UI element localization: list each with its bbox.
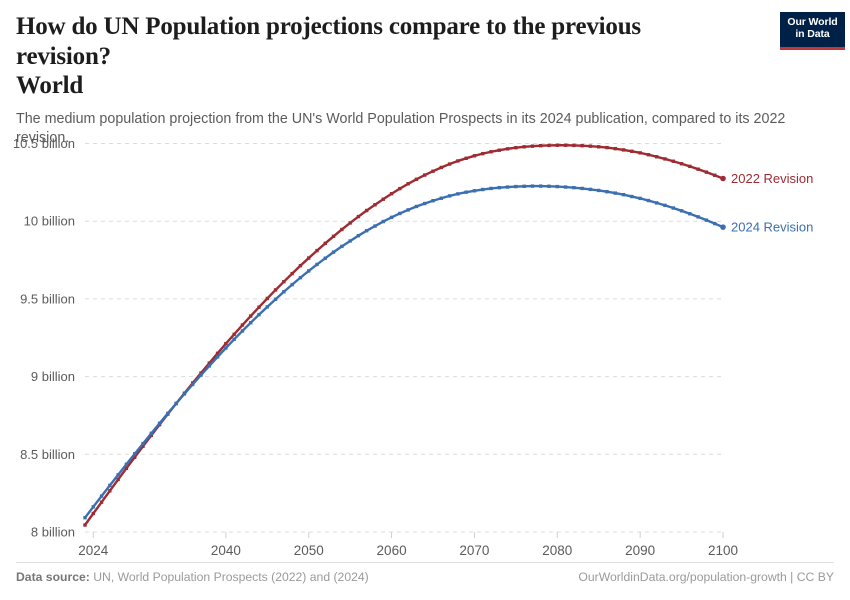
series-point <box>116 478 119 481</box>
series-point <box>83 523 86 526</box>
series-point <box>199 373 202 376</box>
series-end-marker <box>720 224 726 230</box>
series-point <box>514 146 517 149</box>
series-point <box>622 193 625 196</box>
series-end-marker <box>720 176 726 182</box>
series-point <box>522 185 525 188</box>
page-title-text: How do UN Population projections compare… <box>16 13 641 70</box>
series-point <box>266 297 269 300</box>
series-point <box>406 182 409 185</box>
series-point <box>580 187 583 190</box>
series-point <box>564 185 567 188</box>
series-point <box>125 463 128 466</box>
series-point <box>257 305 260 308</box>
series-point <box>431 199 434 202</box>
series-point <box>274 288 277 291</box>
series-point <box>431 170 434 173</box>
series-point <box>489 150 492 153</box>
series-point <box>481 188 484 191</box>
series-point <box>473 189 476 192</box>
series-point <box>630 150 633 153</box>
y-tick-label: 8 billion <box>31 525 75 540</box>
series-point <box>663 157 666 160</box>
y-tick-label: 8.5 billion <box>20 447 75 462</box>
series-point <box>423 202 426 205</box>
series-point <box>647 153 650 156</box>
series-point <box>597 145 600 148</box>
series-point <box>340 245 343 248</box>
owid-logo-line1: Our World <box>780 17 845 29</box>
series-point <box>332 235 335 238</box>
series-point <box>672 206 675 209</box>
series-point <box>357 234 360 237</box>
series-point <box>605 146 608 149</box>
series-point <box>398 187 401 190</box>
series-point <box>605 190 608 193</box>
series-point <box>696 215 699 218</box>
series-point <box>672 160 675 163</box>
data-source: Data source: UN, World Population Prospe… <box>16 570 369 584</box>
series-point <box>249 314 252 317</box>
series-point <box>373 224 376 227</box>
x-tick-label: 2060 <box>377 543 407 557</box>
data-source-value: UN, World Population Prospects (2022) an… <box>90 570 369 584</box>
page-title: How do UN Population projections compare… <box>16 12 716 101</box>
series-point <box>647 199 650 202</box>
series-point <box>133 452 136 455</box>
x-tick-label: 2040 <box>211 543 241 557</box>
series-point <box>663 204 666 207</box>
y-tick-label: 9 billion <box>31 369 75 384</box>
series-point <box>299 276 302 279</box>
series-point <box>282 290 285 293</box>
series-point <box>614 147 617 150</box>
series-point <box>440 166 443 169</box>
series-point <box>423 173 426 176</box>
series-point <box>506 185 509 188</box>
series-point <box>83 516 86 519</box>
series-point <box>315 249 318 252</box>
series-point <box>390 216 393 219</box>
series-point <box>365 209 368 212</box>
series-point <box>415 205 418 208</box>
series-point <box>464 157 467 160</box>
series-point <box>348 239 351 242</box>
series-point <box>539 184 542 187</box>
series-point <box>547 144 550 147</box>
series-point <box>348 221 351 224</box>
data-source-label: Data source: <box>16 570 90 584</box>
series-point <box>232 333 235 336</box>
y-tick-label: 10 billion <box>24 214 75 229</box>
series-point <box>415 178 418 181</box>
series-point <box>290 283 293 286</box>
owid-logo-line2: in Data <box>780 29 845 41</box>
series-point <box>448 194 451 197</box>
series-point <box>547 185 550 188</box>
series-point <box>572 144 575 147</box>
series-point <box>622 148 625 151</box>
series-point <box>506 147 509 150</box>
series-point <box>183 392 186 395</box>
series-point <box>158 422 161 425</box>
y-tick-label: 9.5 billion <box>20 291 75 306</box>
x-tick-label: 2070 <box>459 543 489 557</box>
series-point <box>696 167 699 170</box>
series-point <box>456 159 459 162</box>
series-point <box>556 144 559 147</box>
line-chart-svg: 8 billion8.5 billion9 billion9.5 billion… <box>0 112 850 557</box>
series-point <box>357 215 360 218</box>
series-point <box>216 355 219 358</box>
series-point <box>531 184 534 187</box>
series-point <box>382 220 385 223</box>
y-tick-label: 10.5 billion <box>13 136 75 151</box>
series-point <box>597 189 600 192</box>
chart-credit[interactable]: OurWorldinData.org/population-growth | C… <box>578 570 834 584</box>
series-point <box>373 203 376 206</box>
series-point <box>688 165 691 168</box>
series-point <box>531 144 534 147</box>
series-point <box>589 144 592 147</box>
series-point <box>299 264 302 267</box>
series-point <box>655 155 658 158</box>
series-line <box>85 145 723 525</box>
series-point <box>282 280 285 283</box>
series-label-2[interactable]: 2024 Revision <box>731 220 813 235</box>
series-point <box>191 383 194 386</box>
series-point <box>150 432 153 435</box>
series-point <box>390 192 393 195</box>
series-point <box>564 144 567 147</box>
series-point <box>464 190 467 193</box>
x-tick-label: 2050 <box>294 543 324 557</box>
x-tick-label: 2090 <box>625 543 655 557</box>
series-point <box>498 186 501 189</box>
series-point <box>241 329 244 332</box>
chart-plot-area: 8 billion8.5 billion9 billion9.5 billion… <box>0 112 850 557</box>
series-point <box>398 212 401 215</box>
series-point <box>580 144 583 147</box>
series-point <box>630 195 633 198</box>
series-point <box>290 272 293 275</box>
series-point <box>365 229 368 232</box>
series-point <box>100 494 103 497</box>
series-point <box>340 228 343 231</box>
chart-page: How do UN Population projections compare… <box>0 0 850 600</box>
series-point <box>688 212 691 215</box>
series-point <box>556 185 559 188</box>
x-tick-label: 2080 <box>542 543 572 557</box>
series-point <box>324 242 327 245</box>
series-point <box>108 489 111 492</box>
series-point <box>108 484 111 487</box>
series-point <box>92 505 95 508</box>
x-tick-label: 2100 <box>708 543 738 557</box>
series-point <box>440 197 443 200</box>
series-point <box>572 186 575 189</box>
series-point <box>638 151 641 154</box>
series-point <box>92 512 95 515</box>
series-point <box>498 149 501 152</box>
series-point <box>655 201 658 204</box>
owid-logo[interactable]: Our World in Data <box>780 12 845 50</box>
series-point <box>307 269 310 272</box>
series-point <box>224 342 227 345</box>
series-point <box>680 209 683 212</box>
page-title-entity: World <box>16 71 716 101</box>
chart-footer: Data source: UN, World Population Prospe… <box>16 562 834 586</box>
series-point <box>257 313 260 316</box>
series-point <box>141 442 144 445</box>
series-point <box>116 473 119 476</box>
series-point <box>713 222 716 225</box>
series-point <box>166 412 169 415</box>
series-point <box>522 145 525 148</box>
series-point <box>713 174 716 177</box>
series-point <box>406 208 409 211</box>
series-point <box>589 188 592 191</box>
series-point <box>266 305 269 308</box>
series-point <box>241 323 244 326</box>
series-point <box>481 152 484 155</box>
series-point <box>456 192 459 195</box>
series-point <box>224 346 227 349</box>
series-point <box>100 500 103 503</box>
series-point <box>489 187 492 190</box>
series-point <box>705 170 708 173</box>
series-point <box>514 185 517 188</box>
series-label-1[interactable]: 2022 Revision <box>731 171 813 186</box>
series-point <box>705 218 708 221</box>
series-point <box>274 298 277 301</box>
series-point <box>638 197 641 200</box>
series-point <box>680 162 683 165</box>
series-point <box>307 256 310 259</box>
x-tick-label: 2024 <box>78 543 109 557</box>
series-point <box>382 197 385 200</box>
series-point <box>448 162 451 165</box>
series-point <box>315 263 318 266</box>
series-point <box>208 364 211 367</box>
series-point <box>332 250 335 253</box>
series-point <box>614 191 617 194</box>
series-line <box>85 186 723 518</box>
series-point <box>174 402 177 405</box>
series-point <box>539 144 542 147</box>
series-point <box>324 257 327 260</box>
series-point <box>249 321 252 324</box>
series-point <box>473 154 476 157</box>
series-point <box>232 338 235 341</box>
